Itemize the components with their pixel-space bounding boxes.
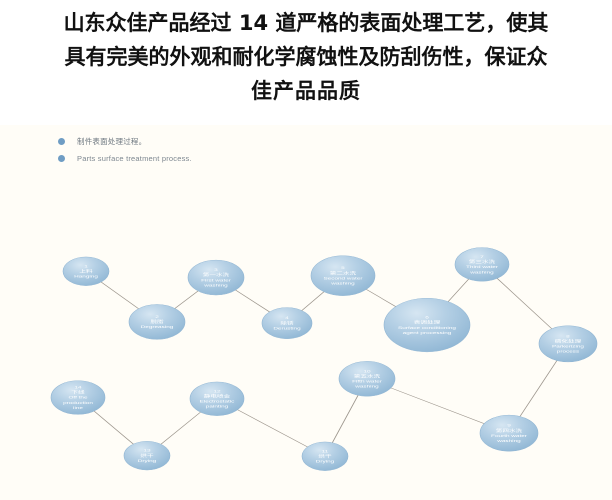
process-node-number: 13: [143, 449, 150, 453]
process-node-label-en: washing: [470, 270, 493, 274]
graph-edge: [497, 278, 553, 329]
graph-nodes: 1上料Hanging2脱脂Degreasing3第一水洗First waterw…: [51, 248, 597, 471]
process-node-label-cn: 第二水洗: [330, 270, 357, 276]
graph-edge: [160, 412, 201, 445]
process-node-label-cn: 表调处理: [414, 319, 441, 325]
process-node-number: 14: [74, 386, 81, 390]
process-node-label-en: Electrostatic: [200, 400, 235, 404]
process-node-number: 5: [341, 266, 345, 270]
process-node-label-en: washing: [355, 385, 378, 389]
process-node[interactable]: 4除锈Derusting: [262, 308, 312, 339]
process-node-number: 1: [84, 264, 88, 268]
page-title-line-3: 佳产品品质: [14, 74, 598, 108]
process-node-label-en: Off the: [68, 396, 87, 400]
process-node-label-en: Degreasing: [141, 325, 174, 329]
process-node[interactable]: 14下线Off theproductionline: [51, 381, 105, 415]
process-node-label-en: Drying: [316, 460, 335, 464]
process-node-label-cn: 下线: [71, 389, 85, 395]
page-title-line-2: 具有完美的外观和耐化学腐蚀性及防刮伤性，保证众: [14, 40, 598, 74]
process-node[interactable]: 3第一水洗First waterwashing: [188, 260, 244, 295]
process-node-label-en: Surface conditioning: [398, 326, 456, 330]
process-node-label-cn: 第三水洗: [469, 259, 496, 265]
process-node-number: 9: [507, 424, 511, 428]
graph-edge: [235, 290, 270, 313]
process-node-label-en: agent processing: [403, 331, 452, 335]
process-node[interactable]: 5第二水洗Second waterwashing: [311, 256, 375, 296]
process-node-label-cn: 静电喷金: [204, 393, 231, 399]
process-node-label-cn: 上料: [79, 268, 93, 274]
graph-edge: [93, 411, 133, 445]
process-node-label-en: Drying: [138, 459, 157, 463]
page-title-line-1: 山东众佳产品经过 14 道严格的表面处理工艺，使其: [14, 6, 598, 40]
process-node-label-en: First water: [201, 278, 231, 282]
process-node-label-en: Derusting: [273, 327, 300, 331]
process-node-label-cn: 烘干: [140, 452, 154, 458]
graph-edge: [237, 409, 308, 447]
process-node-label-en: washing: [331, 282, 354, 286]
process-node-label-en: Parkerizing: [552, 345, 584, 349]
process-node[interactable]: 7第三水洗Third waterwashing: [455, 248, 509, 282]
graph-edge: [332, 395, 358, 443]
process-node-number: 7: [480, 255, 484, 259]
process-node-label-en: Fifth water: [352, 380, 382, 384]
process-node[interactable]: 13烘干Drying: [124, 441, 170, 470]
graph-edge: [101, 282, 140, 310]
process-node[interactable]: 1上料Hanging: [63, 257, 109, 286]
graph-edge: [174, 290, 198, 308]
process-flow-graph: 1上料Hanging2脱脂Degreasing3第一水洗First waterw…: [0, 125, 612, 500]
process-node-number: 4: [285, 316, 289, 320]
process-node[interactable]: 8磷化处理Parkerizingprocess: [539, 326, 597, 362]
process-node-label-cn: 第一水洗: [203, 272, 230, 278]
process-node-number: 10: [363, 369, 370, 373]
process-node-label-en: process: [557, 350, 580, 354]
graph-edge: [390, 388, 485, 424]
process-node-label-en: washing: [204, 283, 227, 287]
process-node-label-cn: 脱脂: [150, 319, 164, 325]
process-node-label-cn: 第四水洗: [496, 427, 523, 433]
process-node-label-cn: 第五水洗: [354, 373, 381, 379]
process-node-number: 8: [566, 334, 570, 338]
process-node-number: 11: [322, 449, 329, 453]
process-diagram-panel: 制件表面处理过程。 Parts surface treatment proces…: [0, 125, 612, 500]
process-node-number: 12: [213, 389, 220, 393]
process-node[interactable]: 2脱脂Degreasing: [129, 304, 185, 339]
process-node[interactable]: 6表调处理Surface conditioningagent processin…: [384, 298, 470, 352]
process-node[interactable]: 11烘干Drying: [302, 442, 348, 471]
process-node-label-en: Second water: [323, 276, 362, 280]
process-node-label-en: line: [73, 406, 83, 410]
process-node-label-en: Hanging: [74, 275, 98, 279]
process-node-number: 6: [425, 316, 429, 320]
process-node-label-en: production: [63, 401, 93, 405]
page-title: 山东众佳产品经过 14 道严格的表面处理工艺，使其 具有完美的外观和耐化学腐蚀性…: [0, 6, 612, 108]
graph-edge: [366, 289, 397, 307]
process-node-label-en: washing: [497, 439, 520, 443]
process-node-label-cn: 烘干: [318, 453, 332, 459]
process-node-label-cn: 磷化处理: [555, 338, 582, 344]
process-node[interactable]: 10第五水洗Fifth waterwashing: [339, 361, 395, 396]
process-node[interactable]: 9第四水洗Fourth waterwashing: [480, 415, 538, 451]
process-node-number: 2: [155, 315, 159, 319]
graph-edge: [520, 360, 558, 417]
process-node-label-en: Third water: [466, 265, 498, 269]
process-node[interactable]: 12静电喷金Electrostaticpainting: [190, 382, 244, 416]
process-node-label-cn: 除锈: [280, 320, 294, 326]
graph-edge: [301, 291, 324, 311]
process-node-label-en: painting: [206, 405, 228, 409]
process-node-number: 3: [214, 268, 218, 272]
graph-edge: [448, 279, 469, 303]
process-node-label-en: Fourth water: [491, 434, 527, 438]
